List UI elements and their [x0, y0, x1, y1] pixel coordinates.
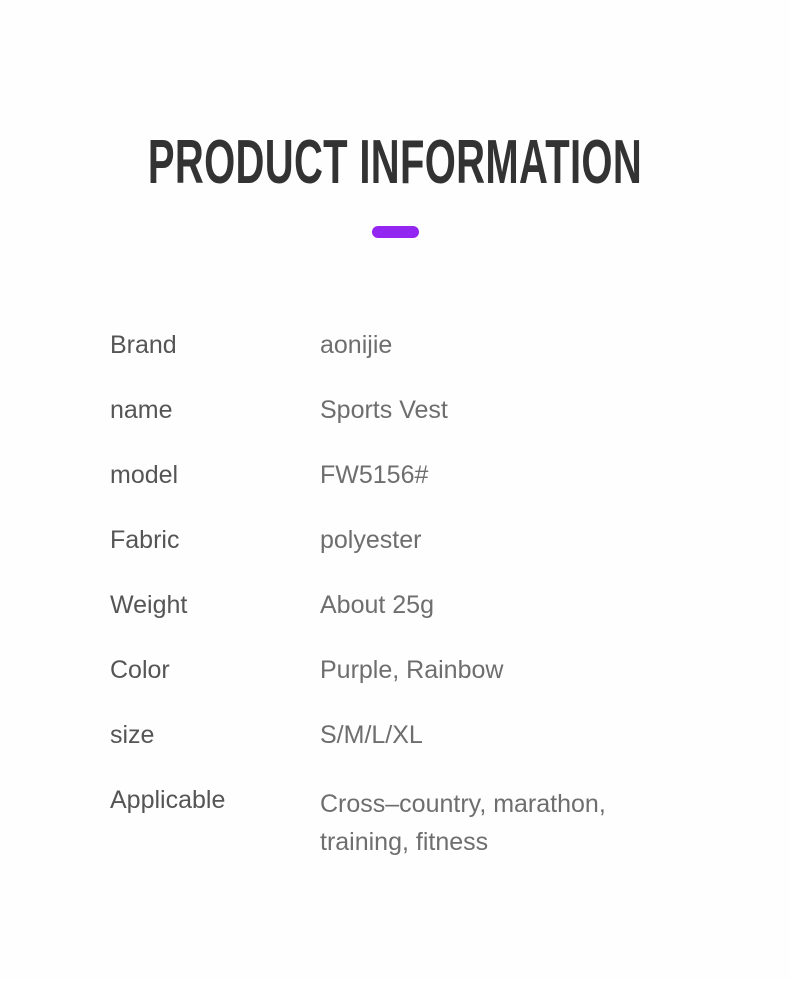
table-row: Weight About 25g	[110, 590, 730, 655]
spec-value-brand: aonijie	[320, 330, 720, 360]
spec-table: Brand aonijie name Sports Vest model FW5…	[110, 330, 730, 889]
spec-label-fabric: Fabric	[110, 525, 310, 555]
spec-label-applicable: Applicable	[110, 785, 310, 815]
table-row: name Sports Vest	[110, 395, 730, 460]
table-row: Color Purple, Rainbow	[110, 655, 730, 720]
spec-label-weight: Weight	[110, 590, 310, 620]
spec-value-name: Sports Vest	[320, 395, 720, 425]
table-row: Applicable Cross–country, marathon, trai…	[110, 785, 730, 889]
accent-bar-divider	[372, 226, 419, 238]
page-header: PRODUCT INFORMATION	[0, 132, 790, 194]
spec-label-size: size	[110, 720, 310, 750]
table-row: Brand aonijie	[110, 330, 730, 395]
spec-value-size: S/M/L/XL	[320, 720, 720, 750]
product-information-page: PRODUCT INFORMATION Brand aonijie name S…	[0, 0, 790, 981]
spec-value-color: Purple, Rainbow	[320, 655, 720, 685]
spec-value-weight: About 25g	[320, 590, 720, 620]
spec-value-model: FW5156#	[320, 460, 720, 490]
spec-label-model: model	[110, 460, 310, 490]
spec-label-color: Color	[110, 655, 310, 685]
table-row: size S/M/L/XL	[110, 720, 730, 785]
spec-label-name: name	[110, 395, 310, 425]
table-row: model FW5156#	[110, 460, 730, 525]
spec-value-applicable: Cross–country, marathon, training, fitne…	[320, 785, 720, 861]
title-accent-wrapper	[0, 226, 790, 240]
spec-label-brand: Brand	[110, 330, 310, 360]
spec-value-fabric: polyester	[320, 525, 720, 555]
table-row: Fabric polyester	[110, 525, 730, 590]
page-title: PRODUCT INFORMATION	[140, 132, 650, 194]
